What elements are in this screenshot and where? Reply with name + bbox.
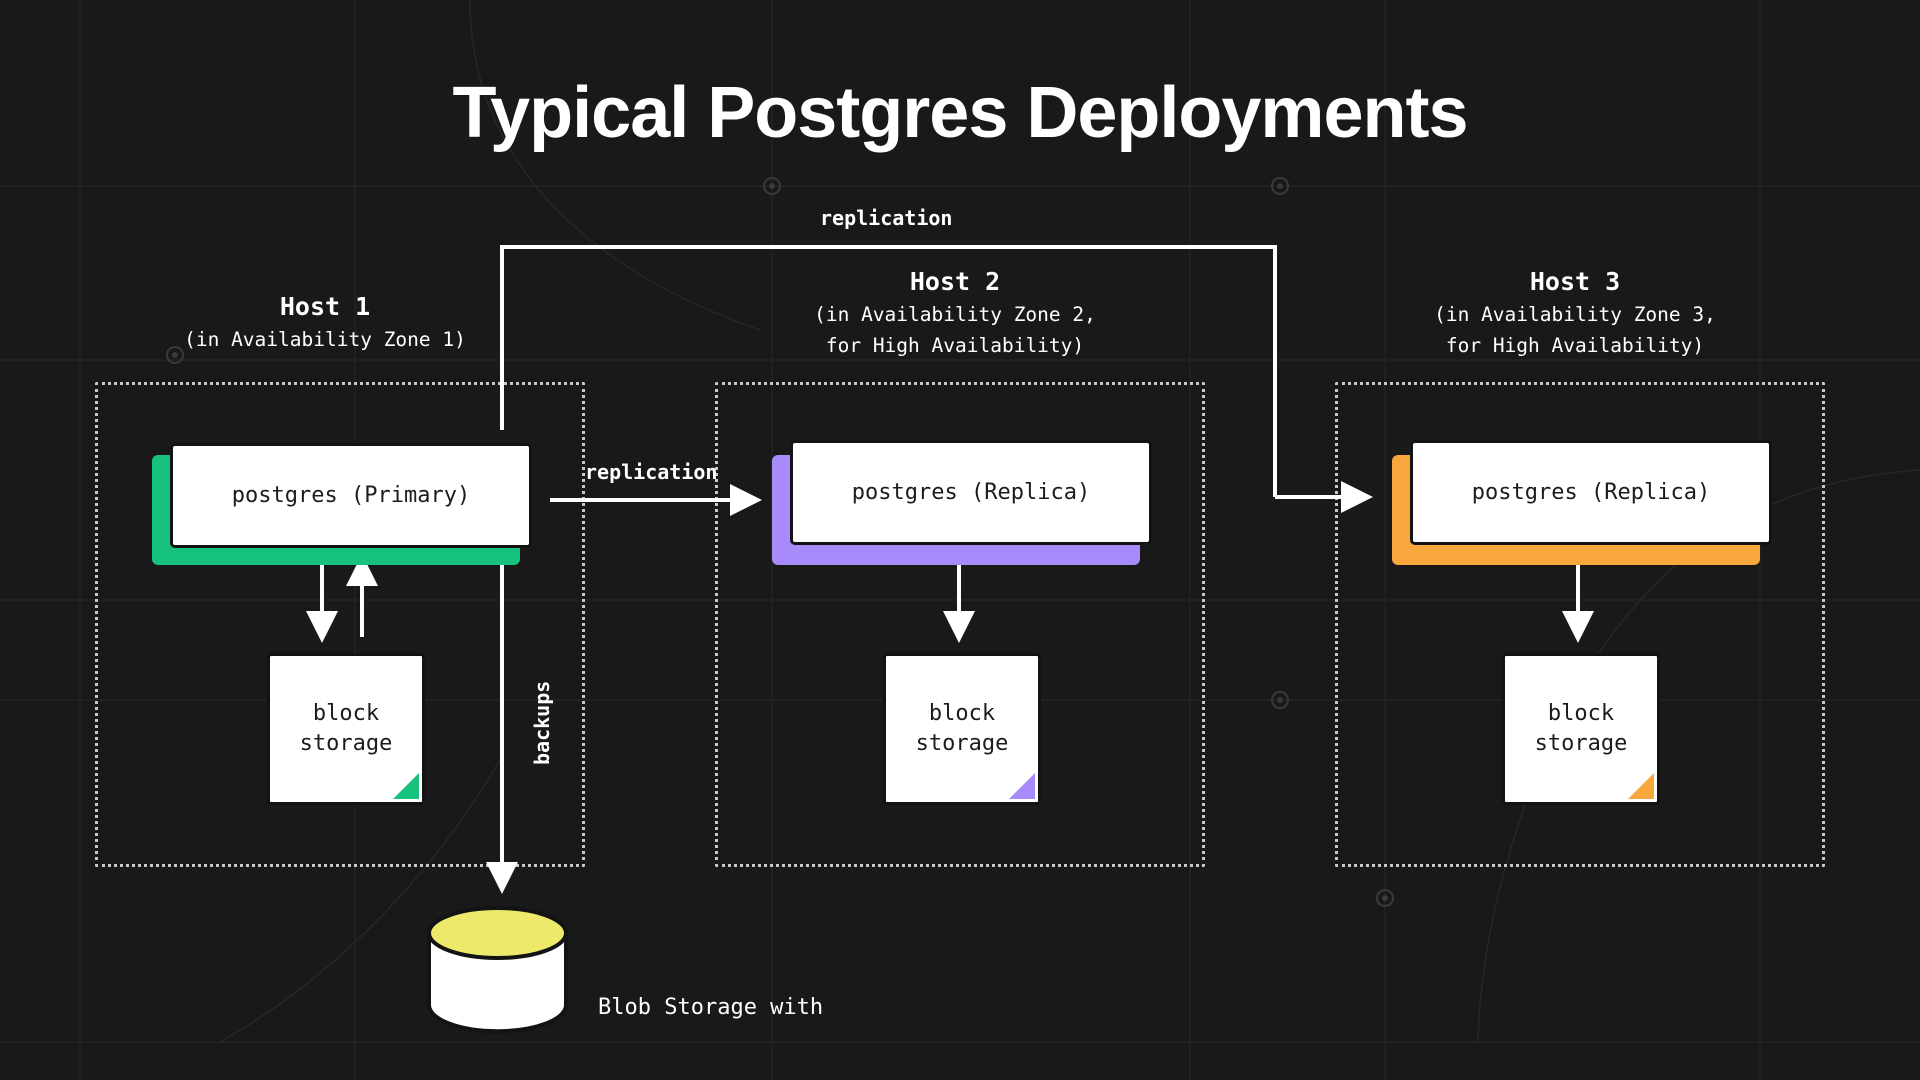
host-subtitle-host-2: (in Availability Zone 2, for High Availa…	[740, 299, 1170, 361]
postgres-node-label-host-1: postgres (Primary)	[232, 483, 470, 508]
blob-storage-label: Blob Storage with Backups (i.e. S3)	[598, 930, 823, 1080]
block-storage-line1-host-3: block	[1548, 699, 1614, 729]
diagram-canvas: Typical Postgres Deployments replication	[0, 0, 1920, 1080]
blob-storage-label-line1: Blob Storage with	[598, 992, 823, 1023]
host-label-host-1: Host 1 (in Availability Zone 1)	[110, 290, 540, 355]
postgres-node-label-host-2: postgres (Replica)	[852, 480, 1090, 505]
block-storage-line1-host-1: block	[313, 699, 379, 729]
postgres-node-host-2[interactable]: postgres (Replica)	[790, 440, 1152, 545]
page-title: Typical Postgres Deployments	[0, 72, 1920, 154]
block-storage-line2-host-2: storage	[916, 729, 1009, 759]
host-subtitle-host-1: (in Availability Zone 1)	[110, 324, 540, 355]
block-storage-corner-icon-host-3	[1628, 773, 1654, 799]
postgres-node-host-1[interactable]: postgres (Primary)	[170, 443, 532, 548]
block-storage-line1-host-2: block	[929, 699, 995, 729]
edge-label-replication-mid: replication	[585, 460, 717, 484]
host-subtitle-host-3: (in Availability Zone 3, for High Availa…	[1360, 299, 1790, 361]
host-name-host-3: Host 3	[1360, 265, 1790, 299]
block-storage-line2-host-3: storage	[1535, 729, 1628, 759]
host-label-host-3: Host 3 (in Availability Zone 3, for High…	[1360, 265, 1790, 361]
block-storage-corner-icon-host-2	[1009, 773, 1035, 799]
host-name-host-2: Host 2	[740, 265, 1170, 299]
block-storage-host-2[interactable]: block storage	[883, 653, 1041, 805]
block-storage-host-3[interactable]: block storage	[1502, 653, 1660, 805]
edge-label-backups: backups	[530, 681, 554, 765]
blob-storage-cylinder-icon[interactable]	[425, 905, 570, 1035]
postgres-node-host-3[interactable]: postgres (Replica)	[1410, 440, 1772, 545]
block-storage-corner-icon-host-1	[393, 773, 419, 799]
host-name-host-1: Host 1	[110, 290, 540, 324]
postgres-node-label-host-3: postgres (Replica)	[1472, 480, 1710, 505]
block-storage-host-1[interactable]: block storage	[267, 653, 425, 805]
block-storage-line2-host-1: storage	[300, 729, 393, 759]
edge-label-replication-top: replication	[820, 206, 952, 230]
host-label-host-2: Host 2 (in Availability Zone 2, for High…	[740, 265, 1170, 361]
